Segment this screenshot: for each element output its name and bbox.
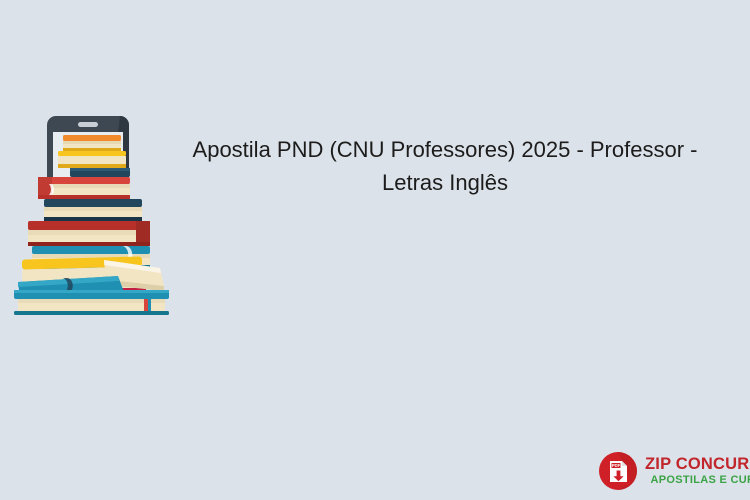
book-layer-navy-upper [70,168,130,177]
pdf-download-circle-icon: PDF [598,451,638,491]
product-banner: Apostila PND (CNU Professores) 2025 - Pr… [0,0,750,500]
book-layer-navy-mid [44,199,142,221]
stack-of-books-with-tablet-illustration [8,110,178,315]
svg-text:PDF: PDF [612,463,621,468]
book-layer-yellow-upper [58,151,126,168]
brand-logo[interactable]: PDF ZIP CONCURSOS APOSTILAS E CURSOS [598,448,746,494]
page-title: Apostila PND (CNU Professores) 2025 - Pr… [160,133,730,199]
book-layer-red-upper [38,177,130,199]
book-layer-maroon [28,221,150,246]
book-layer-base-teal [14,290,169,315]
brand-wordmark: ZIP CONCURSOS APOSTILAS E CURSOS [645,456,750,487]
brand-name: ZIP CONCURSOS [645,456,750,473]
book-layer-orange-top [63,135,121,151]
brand-tagline: APOSTILAS E CURSOS [645,475,750,486]
